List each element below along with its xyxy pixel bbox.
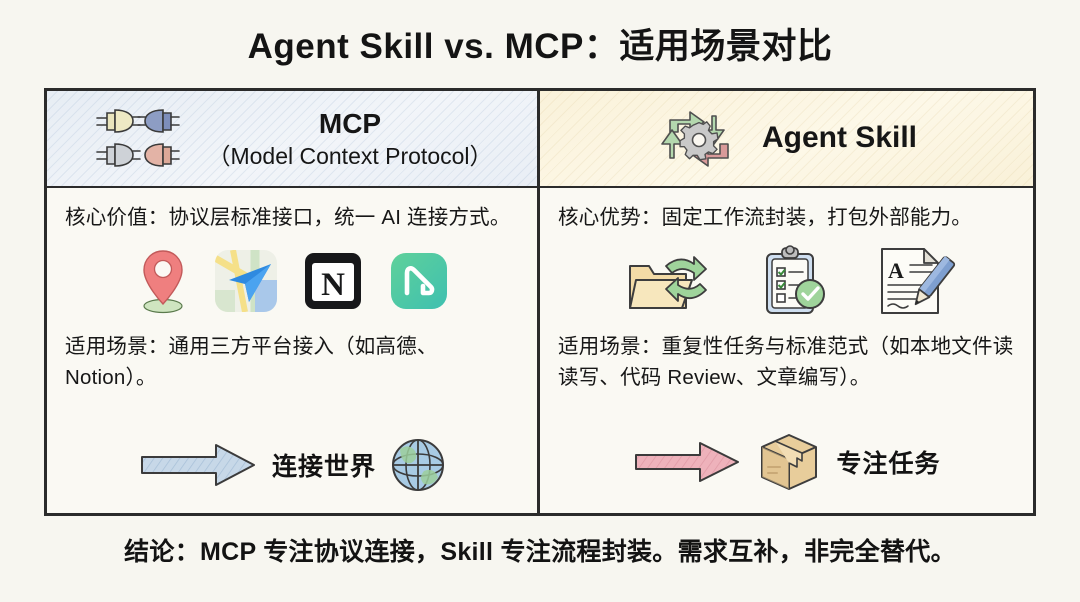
gear-cycle-icon: [656, 100, 742, 178]
green-app-icon: [389, 251, 449, 311]
folder-exchange-icon: [626, 246, 712, 316]
mcp-summary-label: 连接世界: [272, 447, 376, 483]
notion-logo-icon: N: [303, 251, 363, 311]
skill-core-advantage: 核心优势：固定工作流封装，打包外部能力。: [558, 202, 1017, 233]
skill-summary-label: 专注任务: [836, 444, 940, 480]
blue-arrow-icon: [140, 441, 258, 489]
mcp-header: MCP （Model Context Protocol）: [47, 91, 537, 188]
skill-scenario: 适用场景：重复性任务与标准范式（如本地文件读读写、代码 Review、文章编写）…: [558, 331, 1017, 393]
column-mcp: MCP （Model Context Protocol） 核心价值：协议层标准接…: [47, 91, 540, 513]
plug-pair-icon: [91, 102, 187, 176]
page-title: Agent Skill vs. MCP：适用场景对比: [0, 18, 1080, 69]
column-agent-skill: Agent Skill 核心优势：固定工作流封装，打包外部能力。: [540, 91, 1033, 513]
pink-arrow-icon: [634, 438, 742, 486]
svg-text:A: A: [888, 258, 904, 283]
navigation-map-icon: [215, 250, 277, 312]
mcp-app-icon-row: N: [65, 245, 521, 317]
skill-title-main: Agent Skill: [762, 120, 917, 157]
skill-summary-row: 专注任务: [558, 431, 1017, 503]
mcp-scenario: 适用场景：通用三方平台接入（如高德、Notion）。: [65, 331, 521, 393]
mcp-header-title: MCP （Model Context Protocol）: [207, 107, 492, 169]
mcp-title-main: MCP: [207, 107, 492, 141]
agent-skill-header: Agent Skill: [540, 91, 1033, 188]
document-pen-icon: A: [876, 245, 950, 317]
agent-skill-body: 核心优势：固定工作流封装，打包外部能力。: [540, 188, 1033, 513]
comparison-table: MCP （Model Context Protocol） 核心价值：协议层标准接…: [44, 88, 1036, 516]
clipboard-check-icon: [760, 245, 828, 317]
svg-text:N: N: [321, 267, 345, 303]
globe-icon: [390, 437, 446, 493]
mcp-summary-row: 连接世界: [65, 437, 521, 503]
mcp-core-value: 核心价值：协议层标准接口，统一 AI 连接方式。: [65, 202, 521, 233]
mcp-body: 核心价值：协议层标准接口，统一 AI 连接方式。: [47, 188, 537, 513]
package-box-icon: [756, 431, 822, 493]
mcp-title-sub: （Model Context Protocol）: [207, 142, 492, 170]
agent-skill-header-title: Agent Skill: [762, 120, 917, 157]
conclusion-text: 结论：MCP 专注协议连接，Skill 专注流程封装。需求互补，非完全替代。: [0, 532, 1080, 568]
map-pin-icon: [137, 248, 189, 314]
skill-icon-row: A: [558, 245, 1017, 317]
